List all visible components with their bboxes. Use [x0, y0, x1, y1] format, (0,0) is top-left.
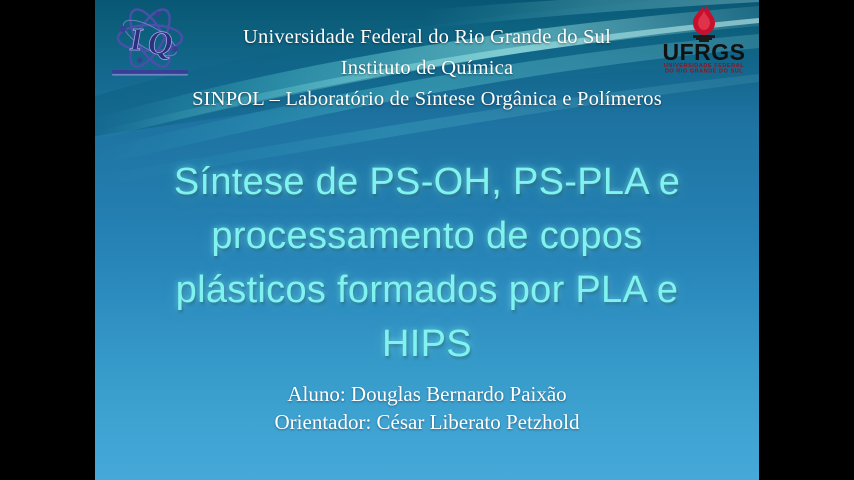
author-advisor: Orientador: César Liberato Petzhold: [95, 408, 759, 436]
title-line-3: plásticos formados por PLA e: [95, 263, 759, 317]
slide-canvas: I Q UFRGS UNIVERS: [95, 0, 759, 480]
header-line-institute: Instituto de Química: [95, 53, 759, 84]
slide-stage: I Q UFRGS UNIVERS: [0, 0, 854, 480]
author-student: Aluno: Douglas Bernardo Paixão: [95, 380, 759, 408]
letterbox-right: [759, 0, 854, 480]
header-line-university: Universidade Federal do Rio Grande do Su…: [95, 22, 759, 53]
title-line-4: HIPS: [95, 317, 759, 371]
header-text-block: Universidade Federal do Rio Grande do Su…: [95, 22, 759, 115]
header-line-lab: SINPOL – Laboratório de Síntese Orgânica…: [95, 84, 759, 115]
slide-title: Síntese de PS-OH, PS-PLA e processamento…: [95, 155, 759, 371]
title-line-1: Síntese de PS-OH, PS-PLA e: [95, 155, 759, 209]
letterbox-left: [0, 0, 95, 480]
title-line-2: processamento de copos: [95, 209, 759, 263]
authors-block: Aluno: Douglas Bernardo Paixão Orientado…: [95, 380, 759, 436]
